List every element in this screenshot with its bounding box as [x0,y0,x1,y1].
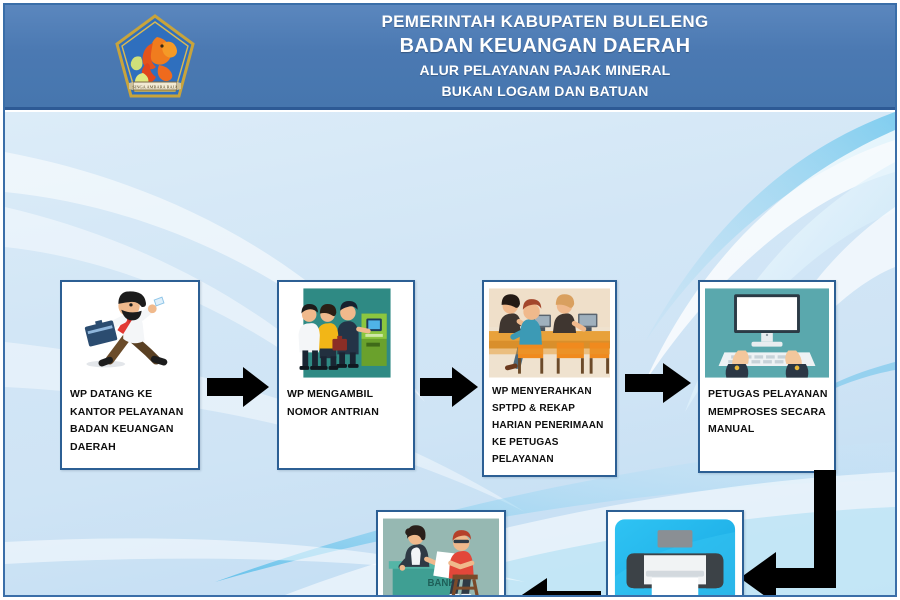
header-line-4: BUKAN LOGAM DAN BATUAN [215,81,875,102]
printer-icon [613,517,737,595]
arrow-step4-to-step5 [740,470,840,595]
flow-step-4-caption: PETUGAS PELAYANAN MEMPROSES SECARA MANUA… [708,386,828,439]
caption-line: KE PETUGAS [492,434,609,451]
caption-line: MANUAL [708,421,828,439]
flow-step-1[interactable]: WP DATANG KE KANTOR PELAYANAN BADAN KEUA… [60,280,200,470]
service-counter-icon [489,287,610,379]
header-title-block: PEMERINTAH KABUPATEN BULELENG BADAN KEUA… [215,11,875,102]
flow-step-2-caption: WP MENGAMBIL NOMOR ANTRIAN [287,386,407,421]
caption-line: BADAN KEUANGAN [70,421,192,439]
flow-step-3[interactable]: WP MENYERAHKAN SPTPD & REKAP HARIAN PENE… [482,280,617,477]
arrow-step5-to-step6 [513,577,601,595]
header-line-1: PEMERINTAH KABUPATEN BULELENG [215,11,875,33]
flow-step-5[interactable]: PETUGAS PELAYANAN MENCETAK TANDA BUKTI P… [606,510,744,595]
flow-step-2[interactable]: WP MENGAMBIL NOMOR ANTRIAN [277,280,415,470]
flow-step-1-caption: WP DATANG KE KANTOR PELAYANAN BADAN KEUA… [70,386,192,456]
infographic-poster: SINGA AMBARA RAJA PEMERINTAH KABUPATEN B… [0,0,900,600]
bank-teller-payment-icon: BANK [383,517,499,595]
arrow-step1-to-step2 [207,366,271,408]
header-line-3: ALUR PELAYANAN PAJAK MINERAL [215,60,875,81]
queue-number-kiosk-icon [284,287,408,379]
svg-text:SINGA AMBARA RAJA: SINGA AMBARA RAJA [132,84,178,89]
running-businessman-icon [67,287,193,379]
caption-line: HARIAN PENERIMAAN [492,417,609,434]
caption-line: DAERAH [70,439,192,457]
caption-line: PETUGAS PELAYANAN [708,386,828,404]
caption-line: MEMPROSES SECARA [708,404,828,422]
caption-line: KANTOR PELAYANAN [70,404,192,422]
diagram-canvas: WP DATANG KE KANTOR PELAYANAN BADAN KEUA… [5,112,895,595]
flow-step-3-caption: WP MENYERAHKAN SPTPD & REKAP HARIAN PENE… [492,383,609,468]
arrow-step3-to-step4 [625,362,691,404]
poster-header: SINGA AMBARA RAJA PEMERINTAH KABUPATEN B… [5,5,895,110]
caption-line: WP MENYERAHKAN [492,383,609,400]
caption-line: WP MENGAMBIL [287,386,407,404]
flow-step-4[interactable]: PETUGAS PELAYANAN MEMPROSES SECARA MANUA… [698,280,836,473]
arrow-step2-to-step3 [420,366,478,408]
header-line-2: BADAN KEUANGAN DAERAH [215,33,875,60]
caption-line: NOMOR ANTRIAN [287,404,407,422]
flow-step-6[interactable]: BANK [376,510,506,595]
caption-line: WP DATANG KE [70,386,192,404]
caption-line: PELAYANAN [492,451,609,468]
buleleng-regency-emblem-icon: SINGA AMBARA RAJA [113,13,197,105]
desktop-computer-typing-icon [705,287,829,379]
caption-line: SPTPD & REKAP [492,400,609,417]
